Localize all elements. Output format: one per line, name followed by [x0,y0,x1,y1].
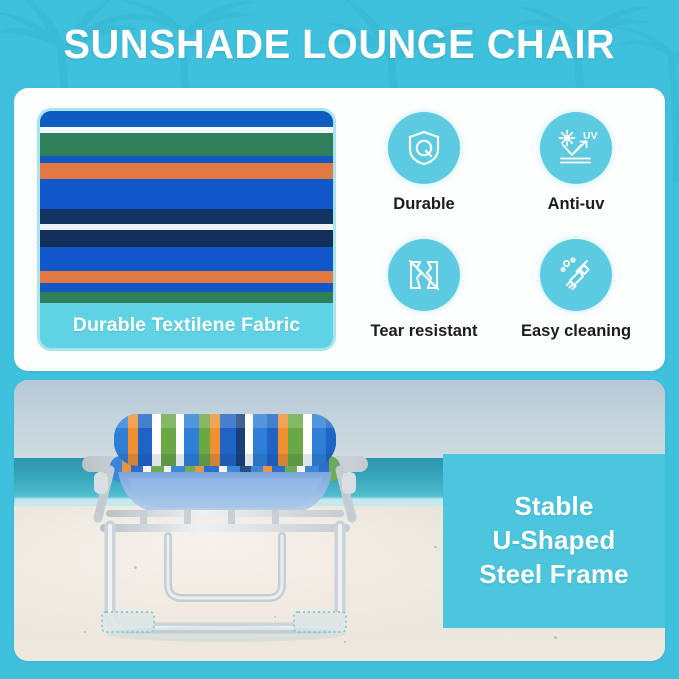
easy-cleaning-icon [540,239,612,311]
feature-anti-uv[interactable]: UV Anti-uv [502,106,650,229]
uv-protection-icon: UV [540,112,612,184]
feature-anti-uv-label: Anti-uv [548,195,605,214]
fabric-stripe [40,163,333,179]
fabric-stripe [40,224,333,231]
feature-easy-cleaning[interactable]: Easy cleaning [502,233,650,356]
feature-durable[interactable]: Durable [350,106,498,229]
lounge-chair-product-image [66,398,384,648]
svg-text:UV: UV [583,130,598,142]
fabric-stripe [40,247,333,271]
fabric-stripe [40,209,333,224]
header: SUNSHADE LOUNGE CHAIR [0,0,679,88]
fabric-stripe [40,271,333,283]
feature-easy-cleaning-label: Easy cleaning [521,322,631,341]
fabric-stripe [40,230,333,247]
fabric-swatch-label: Durable Textilene Fabric [40,303,333,348]
product-infographic: SUNSHADE LOUNGE CHAIR Durable Textilene … [0,0,679,679]
feature-icon-grid: Durable UV [350,106,650,356]
caption-line-2: U-Shaped [493,524,616,558]
fabric-stripe [40,179,333,208]
fabric-stripes [40,111,333,309]
feature-tear-resistant-label: Tear resistant [371,322,478,341]
fabric-stripe [40,283,333,292]
fabric-swatch: Durable Textilene Fabric [37,108,336,351]
page-title: SUNSHADE LOUNGE CHAIR [64,21,616,68]
fabric-stripe [40,133,333,156]
fabric-swatch-label-text: Durable Textilene Fabric [73,314,300,337]
fabric-stripe [40,111,333,127]
frame-caption-panel: Stable U-Shaped Steel Frame [443,454,665,628]
fabric-stripe [40,156,333,164]
features-card: Durable Textilene Fabric Durable [14,88,665,371]
feature-tear-resistant[interactable]: Tear resistant [350,233,498,356]
caption-line-1: Stable [514,490,593,524]
product-photo-panel: Stable U-Shaped Steel Frame [14,380,665,661]
caption-line-3: Steel Frame [479,558,629,592]
feature-durable-label: Durable [393,195,454,214]
tear-resistant-icon [388,239,460,311]
shield-quality-icon [388,112,460,184]
